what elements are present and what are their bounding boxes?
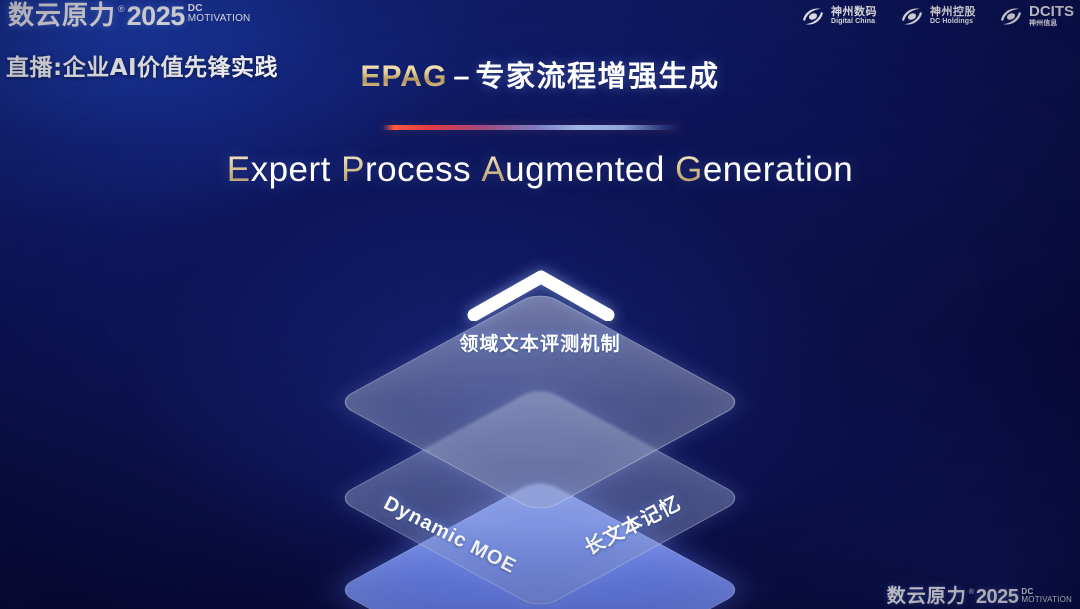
watermark-logo: 数云原力 ® 2025 DC MOTIVATION — [887, 587, 1072, 607]
isometric-layer-stack: 三类语义建模模块 Dynamic MOE 长文本记忆 领域文本评测机制 — [290, 225, 790, 585]
brand-year: 2025 — [127, 3, 185, 30]
partner-name-cn: DCITS — [1029, 4, 1074, 20]
subtitle-rest-augmented: ugmented — [505, 150, 665, 189]
watermark-year: 2025 — [976, 587, 1019, 607]
title-acronym: EPAG — [361, 60, 448, 93]
chevron-up-icon — [466, 269, 616, 321]
subtitle-rest-expert: xpert — [251, 150, 331, 189]
subtitle-cap-g: G — [675, 150, 703, 189]
brand-dc-motivation: DC MOTIVATION — [188, 4, 251, 24]
watermark-motivation-label: MOTIVATION — [1021, 596, 1072, 604]
subtitle-cap-e: E — [227, 150, 251, 189]
watermark-name-cn: 数云原力 — [887, 587, 967, 606]
watermark-dc-motivation: DC MOTIVATION — [1021, 588, 1072, 604]
partner-name-en: DC Holdings — [930, 18, 976, 25]
subtitle-cap-p: P — [341, 150, 365, 189]
partner-text: 神州控股 DC Holdings — [930, 6, 976, 25]
title-dash: – — [453, 61, 469, 93]
swirl-logo-icon — [800, 5, 826, 27]
partner-logo-bar: 神州数码 Digital China 神州控股 DC Holdings — [800, 4, 1074, 27]
stack-layer-top[interactable]: 领域文本评测机制 — [290, 225, 790, 475]
brand-logo: 数云原力 ® 2025 DC MOTIVATION — [8, 3, 250, 30]
swirl-logo-icon — [998, 5, 1024, 27]
partner-name-en: 神州信息 — [1029, 20, 1074, 27]
registered-mark: ® — [118, 5, 125, 14]
partner-text: 神州数码 Digital China — [831, 6, 877, 25]
partner-logo-digital-china: 神州数码 Digital China — [800, 5, 877, 27]
stack-layer-top-label: 领域文本评测机制 — [290, 329, 790, 356]
partner-logo-dc-holdings: 神州控股 DC Holdings — [899, 5, 976, 27]
partner-name-cn: 神州数码 — [831, 6, 877, 18]
subtitle-rest-process: rocess — [365, 150, 471, 189]
subtitle-rest-generation: eneration — [703, 150, 853, 189]
subtitle-english: Expert Process Augmented Generation — [0, 150, 1080, 190]
title-chinese: 专家流程增强生成 — [475, 59, 719, 93]
page-title: EPAG–专家流程增强生成 — [0, 53, 1080, 95]
gradient-divider — [382, 125, 682, 130]
brand-motivation-label: MOTIVATION — [188, 14, 251, 24]
partner-logo-dcits: DCITS 神州信息 — [998, 4, 1074, 27]
partner-name-en: Digital China — [831, 18, 877, 25]
partner-name-cn: 神州控股 — [930, 6, 976, 18]
brand-name-cn: 数云原力 — [8, 3, 116, 29]
swirl-logo-icon — [899, 5, 925, 27]
slide-stage: 数云原力 ® 2025 DC MOTIVATION 直播:企业AI价值先锋实践 … — [0, 0, 1080, 609]
subtitle-cap-a: A — [481, 150, 505, 189]
partner-text: DCITS 神州信息 — [1029, 4, 1074, 27]
watermark-registered-mark: ® — [969, 589, 974, 596]
